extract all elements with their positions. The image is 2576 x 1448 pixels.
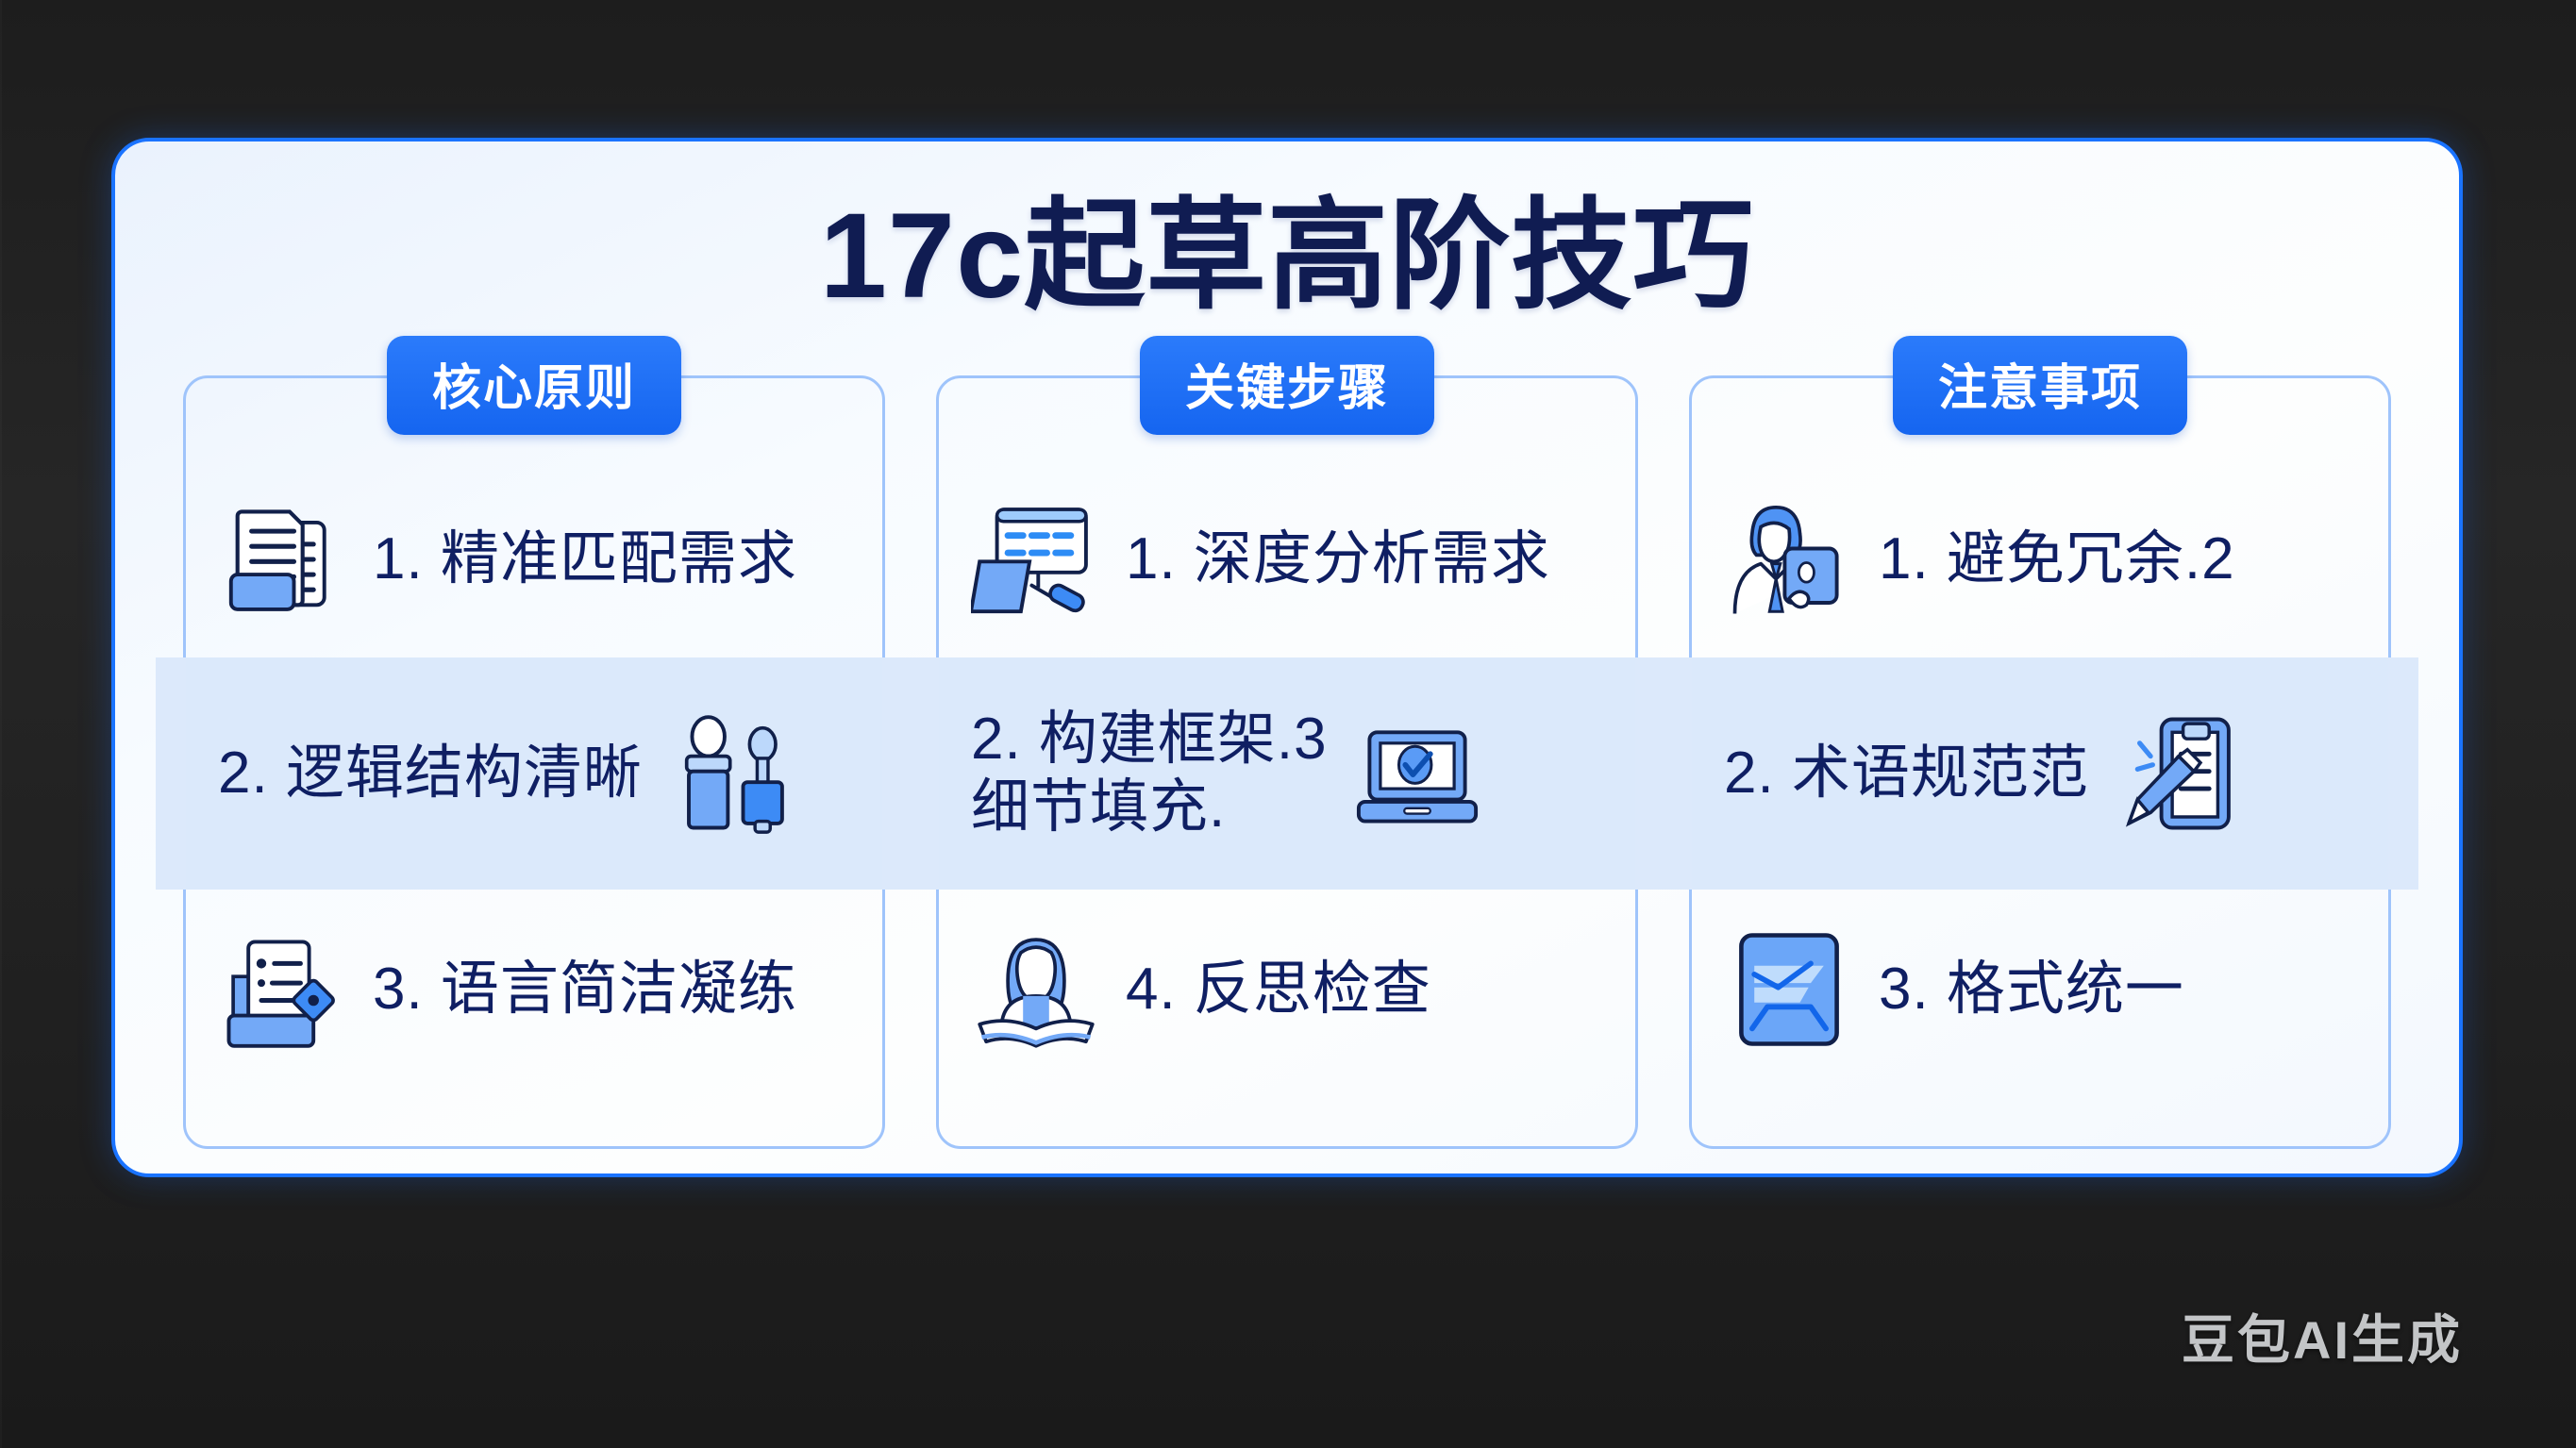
documents-icon — [218, 494, 348, 624]
watermark: 豆包AI生成 — [2182, 1298, 2463, 1374]
list-item-label: 2. 术语规范范 — [1724, 740, 2089, 807]
list-item[interactable]: 2. 逻辑结构清晰 — [186, 657, 882, 890]
column-core-principles: 核心原则 — [183, 375, 885, 1149]
person-tablet-icon — [1724, 494, 1854, 624]
list-item-label: 2. 逻辑结构清晰 — [218, 740, 643, 807]
list-item[interactable]: 1. 精准匹配需求 — [186, 461, 882, 657]
poster-card: 17c起草高阶技巧 核心原则 — [111, 138, 2463, 1177]
printer-document-icon — [218, 924, 348, 1055]
list-item[interactable]: 3. 语言简洁凝练 — [186, 890, 882, 1090]
column-badge[interactable]: 注意事项 — [1893, 336, 2187, 435]
list-item[interactable]: 1. 深度分析需求 — [939, 461, 1635, 657]
pillars-icon — [667, 708, 797, 839]
column-key-steps: 关键步骤 1. 深度 — [936, 375, 1638, 1149]
list-item[interactable]: 2. 构建框架.3 细节填充. — [939, 657, 1635, 890]
column-cautions: 注意事项 1. 避免冗余.2 — [1689, 375, 2391, 1149]
list-item[interactable]: 2. 术语规范范 — [1692, 657, 2388, 890]
list-item-label: 2. 构建框架.3 细节填充. — [971, 706, 1328, 841]
list-item-label: 1. 精准匹配需求 — [373, 525, 797, 593]
laptop-check-icon — [1352, 708, 1482, 839]
list-item-label: 1. 深度分析需求 — [1126, 525, 1550, 593]
list-item-label: 3. 语言简洁凝练 — [373, 956, 797, 1024]
columns-container: 核心原则 — [183, 375, 2391, 1149]
column-badge[interactable]: 核心原则 — [387, 336, 681, 435]
envelope-chart-icon — [1724, 924, 1854, 1055]
list-item-label: 4. 反思检查 — [1126, 956, 1431, 1024]
clipboard-pencil-icon — [2114, 708, 2244, 839]
list-item[interactable]: 4. 反思检查 — [939, 890, 1635, 1090]
person-reading-icon — [971, 924, 1101, 1055]
whiteboard-presentation-icon — [971, 494, 1101, 624]
page-title: 17c起草高阶技巧 — [115, 141, 2459, 317]
column-badge[interactable]: 关键步骤 — [1140, 336, 1434, 435]
list-item-label: 3. 格式统一 — [1879, 956, 2184, 1024]
list-item[interactable]: 1. 避免冗余.2 — [1692, 461, 2388, 657]
list-item-label: 1. 避免冗余.2 — [1879, 525, 2235, 593]
list-item[interactable]: 3. 格式统一 — [1692, 890, 2388, 1090]
